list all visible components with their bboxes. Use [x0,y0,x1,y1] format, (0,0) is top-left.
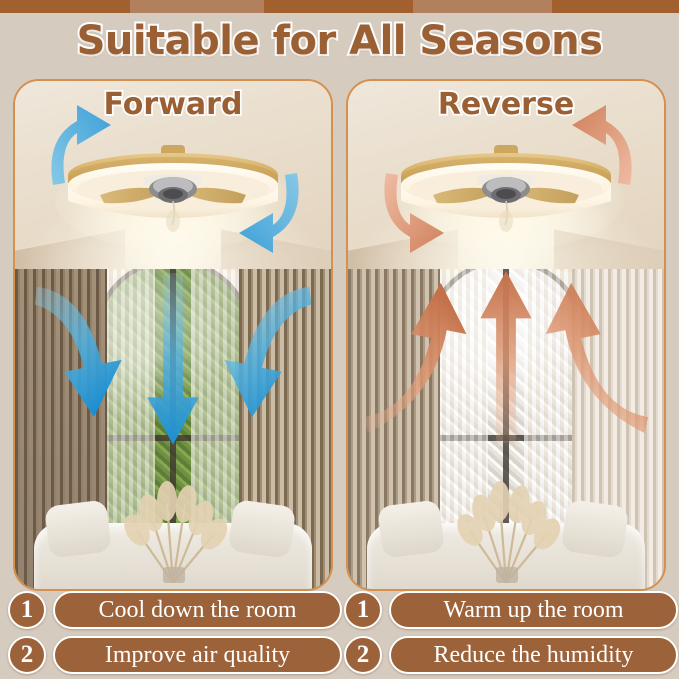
bullet-row: 2 Improve air quality [8,635,342,675]
bullet-row: 2 Reduce the humidity [344,635,678,675]
airflow-arrow-left [35,287,122,417]
bullet-badge: 2 [344,636,382,674]
bullet-label-pill: Reduce the humidity [389,636,678,674]
strip-block-1 [0,0,130,13]
bullet-label-pill: Improve air quality [53,636,342,674]
panel-forward-heading: Forward [15,87,331,122]
bullet-column-reverse: 1 Warm up the room 2 Reduce the humidity [344,590,678,679]
airflow-arrow-left [364,283,467,433]
panel-reverse-heading: Reverse [348,87,664,122]
strip-block-3 [264,0,413,13]
bullet-label-pill: Warm up the room [389,591,678,629]
page-title: Suitable for All Seasons [0,18,679,64]
strip-block-2 [130,0,264,13]
panel-forward: Forward [13,79,333,591]
bullets-container: 1 Cool down the room 2 Improve air quali… [0,590,679,679]
reverse-room-inner [348,269,664,589]
forward-room-scene [15,269,331,589]
bullet-row: 1 Cool down the room [8,590,342,630]
strip-block-5 [552,0,679,13]
arrow-down-right [239,173,299,253]
panels-container: Forward [0,79,679,591]
bullet-badge: 1 [344,591,382,629]
reverse-room-scene [348,269,664,589]
forward-airflow-arrows [15,269,331,585]
arrow-down-left [384,173,444,253]
strip-block-4 [413,0,552,13]
bullet-label-pill: Cool down the room [53,591,342,629]
airflow-arrow-right [546,283,649,433]
airflow-arrow-center [147,273,198,445]
reverse-airflow-arrows [348,269,664,585]
airflow-arrow-right [224,287,311,417]
bullet-badge: 1 [8,591,46,629]
airflow-arrow-center [480,271,531,443]
bullet-badge: 2 [8,636,46,674]
bullet-column-forward: 1 Cool down the room 2 Improve air quali… [8,590,342,679]
top-color-strip [0,0,679,13]
forward-room-inner [15,269,331,589]
bullet-row: 1 Warm up the room [344,590,678,630]
panel-reverse: Reverse [346,79,666,591]
